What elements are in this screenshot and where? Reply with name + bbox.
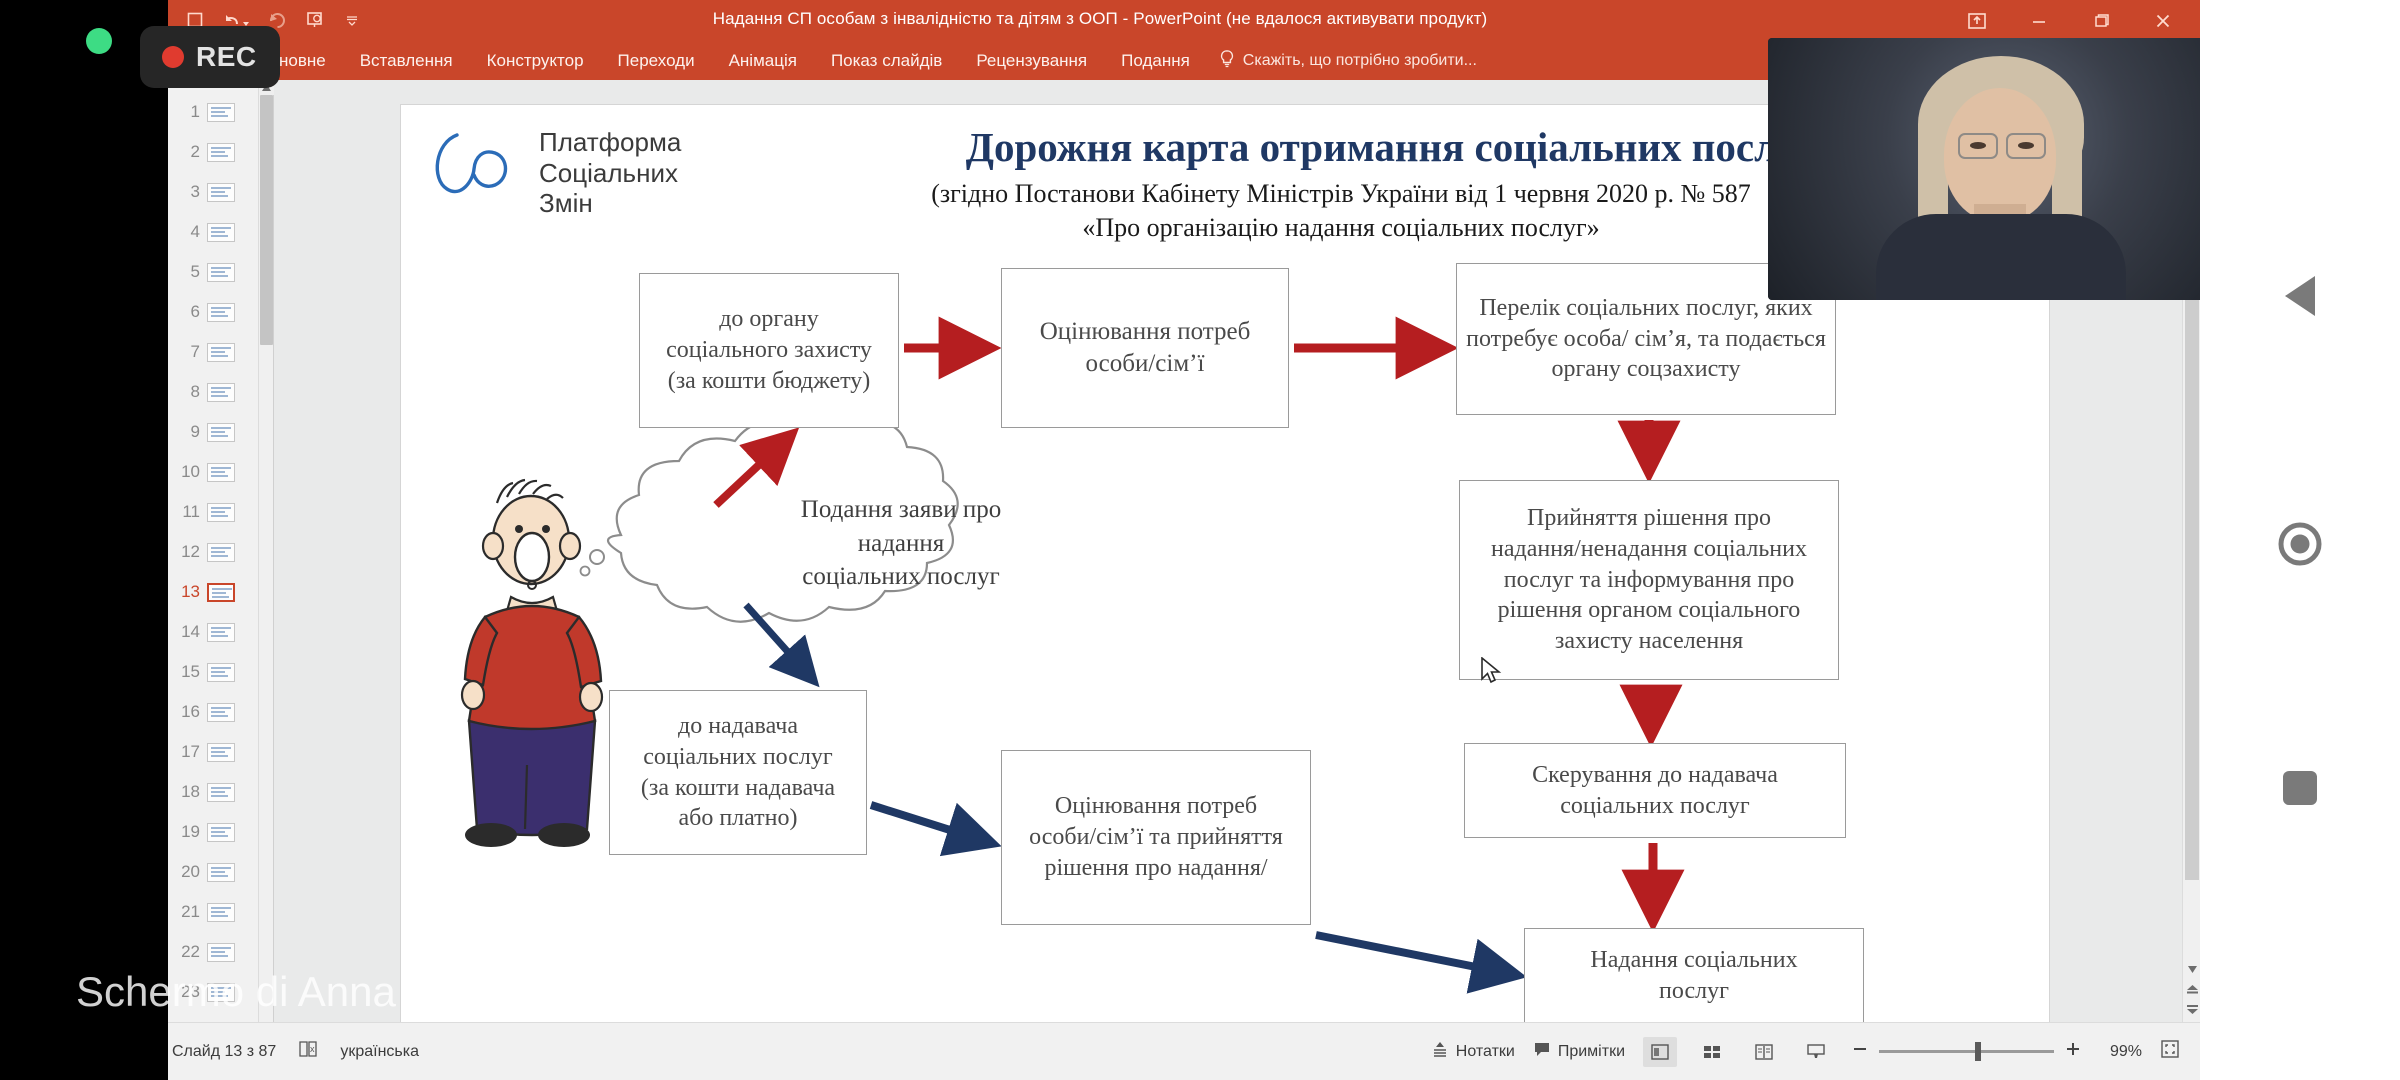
box-line: (за кошти бюджету) [666,366,872,397]
rec-label: REC [196,41,257,73]
window-title: Надання СП особам з інвалідністю та дітя… [0,9,2200,29]
slide-thumbnail-number: 17 [174,742,200,762]
slide-thumbnail-preview[interactable] [207,463,235,482]
flowchart-box-social-protection-body[interactable]: до органу соціального захисту (за кошти … [639,273,899,428]
box-line: органу соцзахисту [1466,354,1826,385]
slide-thumbnail-preview[interactable] [207,823,235,842]
zoom-handle[interactable] [1975,1042,1981,1061]
language-indicator[interactable]: українська [340,1043,419,1061]
slide-counter[interactable]: Слайд 13 з 87 [172,1043,276,1061]
webcam-glasses-left [1958,133,1998,159]
zoom-slider[interactable] [1851,1040,2082,1063]
cloud-line-3: соціальних послуг [746,560,1056,594]
slide-thumbnail-preview[interactable] [207,183,235,202]
screen-share-left-bar [0,0,168,1080]
slide-thumbnail-number: 6 [174,302,200,322]
previous-slide-button[interactable] [2183,980,2201,998]
slide-thumbnail-preview[interactable] [207,343,235,362]
title-bar: Надання СП особам з інвалідністю та дітя… [0,0,2200,42]
thumbnail-scroll-track[interactable] [259,95,274,1007]
box-line: послуг [1590,976,1797,1007]
box-line: Скерування до надавача [1532,760,1778,791]
slide-thumbnail-number: 3 [174,182,200,202]
tab-design[interactable]: Конструктор [470,42,601,80]
status-bar: Слайд 13 з 87 x українська [0,1022,2200,1080]
box-line: Надання соціальних [1590,945,1797,976]
slide-thumbnail-number: 4 [174,222,200,242]
cloud-line-2: надання [746,527,1056,561]
minimize-button[interactable] [2008,0,2070,42]
box-line: захисту населення [1491,626,1807,657]
logo-line-3: Змін [539,188,681,219]
slide-thumbnail-number: 18 [174,782,200,802]
comment-icon [1533,1040,1551,1063]
slide-thumbnail-preview[interactable] [207,903,235,922]
mouse-cursor [1480,657,1502,687]
box-line: особи/сім’ї [1040,348,1251,380]
tab-insert[interactable]: Вставлення [343,42,470,80]
stop-button[interactable] [2200,760,2400,820]
flowchart-box-service-provider[interactable]: до надавача соціальних послуг (за кошти … [609,690,867,855]
slide-thumbnail-number: 11 [174,502,200,522]
slide-thumbnail-preview[interactable] [207,103,235,122]
webcam-preview[interactable] [1768,38,2228,300]
window-controls [1946,0,2194,42]
slide-thumbnail-preview[interactable] [207,623,235,642]
normal-view-button[interactable] [1643,1037,1677,1067]
slide-thumbnail-preview[interactable] [207,223,235,242]
slide-thumbnail-number: 10 [174,462,200,482]
box-line: до органу [666,304,872,335]
box-line: рішення про надання/ [1029,853,1283,884]
cloud-line-1: Подання заяви про [746,493,1056,527]
notes-icon [1431,1040,1449,1063]
box-line: особи/сім’ї та прийняття [1029,822,1283,853]
lightbulb-icon [1219,49,1235,74]
screen-share-watermark: Schermo di Anna [76,968,396,1016]
arrow-assessment2-to-provide [1316,935,1516,975]
slide-thumbnail-preview[interactable] [207,703,235,722]
tab-transitions[interactable]: Переходи [601,42,712,80]
slide-thumbnail-preview[interactable] [207,143,235,162]
notes-label: Нотатки [1456,1043,1515,1061]
webcam-body [1876,214,2126,300]
person-illustration [462,480,602,847]
arrow-cloud-to-provider [746,605,813,680]
box-line: рішення органом соціального [1491,595,1807,626]
box-line: соціальних послуг [1532,791,1778,822]
logo-line-2: Соціальних [539,158,681,189]
cloud-text[interactable]: Подання заяви про надання соціальних пос… [746,493,1056,594]
slide-thumbnail-preview[interactable] [207,783,235,802]
flowchart-box-service-provision[interactable]: Надання соціальних послуг [1524,928,1864,1023]
logo-line-1: Платформа [539,127,681,158]
tab-view[interactable]: Подання [1104,42,1207,80]
record-button[interactable] [2200,516,2400,576]
logo-text: Платформа Соціальних Змін [539,127,681,219]
tab-slideshow[interactable]: Показ слайдів [814,42,959,80]
slide-thumbnail-preview[interactable] [207,743,235,762]
box-line: Прийняття рішення про [1491,503,1807,534]
tab-review[interactable]: Рецензування [959,42,1104,80]
record-circle-icon [2277,521,2323,572]
restore-button[interactable] [2070,0,2132,42]
notes-button[interactable]: Нотатки [1431,1040,1515,1063]
slide-thumbnail-number: 13 [174,582,200,602]
box-line: або платно) [641,803,835,834]
thumbnail-scrollbar[interactable] [258,80,273,1022]
fit-to-window-button[interactable] [2160,1039,2180,1064]
recording-toolbar [2200,0,2400,1080]
box-line: потребує особа/ сім’я, та подається [1466,324,1826,355]
left-triangle-icon [2279,273,2321,324]
tell-me-box[interactable]: Скажіть, що потрібно зробити... [1219,49,1477,74]
box-line: Оцінювання потреб [1029,791,1283,822]
slideshow-view-button[interactable] [1799,1037,1833,1067]
flowchart-box-needs-assessment-2[interactable]: Оцінювання потреб особи/сім’ї та прийнят… [1001,750,1311,925]
slide-thumbnail-preview[interactable] [207,303,235,322]
slide-thumbnail-preview[interactable] [207,263,235,282]
slide-thumbnail-number: 9 [174,422,200,442]
infinity-logo-icon [421,127,525,224]
box-line: послуг та інформування про [1491,565,1807,596]
slide-scroll-down[interactable] [2183,960,2201,978]
slide-thumbnail-preview[interactable] [207,543,235,562]
slide-thumbnail-number: 2 [174,142,200,162]
ribbon-display-options-button[interactable] [1946,0,2008,42]
slide-thumbnail-number: 5 [174,262,200,282]
collapse-toolbar-button[interactable] [2200,268,2400,328]
screen-share-active-indicator [86,28,112,54]
slide-thumbnail-preview[interactable] [207,943,235,962]
slide-thumbnail-preview[interactable] [207,583,235,602]
zoom-track[interactable] [1879,1050,2054,1053]
flowchart-box-referral[interactable]: Скерування до надавача соціальних послуг [1464,743,1846,838]
box-line: Оцінювання потреб [1040,316,1251,348]
reading-view-button[interactable] [1747,1037,1781,1067]
slide-thumbnail-number: 15 [174,662,200,682]
screen: Надання СП особам з інвалідністю та дітя… [0,0,2400,1080]
slide-thumbnail-preview[interactable] [207,863,235,882]
slide-thumbnail-preview[interactable] [207,663,235,682]
box-line: (за кошти надавача [641,773,835,804]
slide-thumbnail-preview[interactable] [207,423,235,442]
slide-thumbnail-number: 20 [174,862,200,882]
slide-thumbnail-preview[interactable] [207,503,235,522]
box-line: соціального захисту [666,335,872,366]
slide-sorter-view-button[interactable] [1695,1037,1729,1067]
slide-thumbnail-number: 22 [174,942,200,962]
slide-thumbnail-number: 14 [174,622,200,642]
box-line: до надавача [641,711,835,742]
slide-thumbnail-number: 12 [174,542,200,562]
tab-animations[interactable]: Анімація [712,42,814,80]
slide-thumbnail-preview[interactable] [207,383,235,402]
tell-me-placeholder: Скажіть, що потрібно зробити... [1243,52,1477,70]
slide-thumbnail-number: 7 [174,342,200,362]
slide-thumbnail-number: 16 [174,702,200,722]
record-dot-icon [162,46,184,68]
flowchart-box-decision[interactable]: Прийняття рішення про надання/ненадання … [1459,480,1839,680]
spellcheck-icon: x [298,1040,318,1063]
zoom-level[interactable]: 99% [2100,1043,2142,1061]
comments-label: Примітки [1558,1043,1625,1061]
box-line: соціальних послуг [641,742,835,773]
thumbnail-scroll-thumb[interactable] [260,95,273,345]
webcam-glasses-right [2006,133,2046,159]
slide-thumbnail-number: 1 [174,102,200,122]
spellcheck-status[interactable]: x [298,1040,318,1063]
comments-button[interactable]: Примітки [1533,1040,1625,1063]
arrow-provider-to-assessment2 [871,805,991,843]
zoom-in-button[interactable] [2064,1040,2082,1063]
recording-indicator[interactable]: REC [140,26,280,88]
slide-thumbnail-number: 19 [174,822,200,842]
svg-text:x: x [310,1044,315,1054]
flowchart-box-needs-assessment[interactable]: Оцінювання потреб особи/сім’ї [1001,268,1289,428]
stop-square-icon [2280,768,2320,813]
zoom-out-button[interactable] [1851,1040,1869,1063]
next-slide-button[interactable] [2183,1000,2201,1018]
platform-logo: Платформа Соціальних Змін [421,127,681,224]
slide-thumbnail-number: 21 [174,902,200,922]
box-line: надання/ненадання соціальних [1491,534,1807,565]
close-button[interactable] [2132,0,2194,42]
slide-thumbnail-number: 8 [174,382,200,402]
